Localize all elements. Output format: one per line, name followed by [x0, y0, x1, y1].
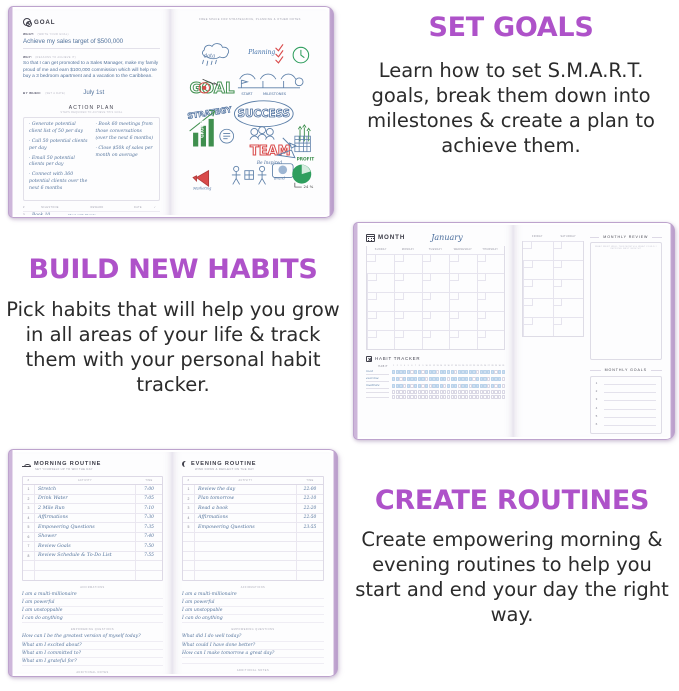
svg-text:SUCCESS: SUCCESS: [238, 108, 291, 120]
row-num: 2: [23, 497, 34, 501]
milestone-text: Book 10 meetings: [32, 213, 68, 216]
routine-row[interactable]: [23, 571, 162, 581]
milestones-col-check: ✓: [150, 206, 160, 209]
calendar-cell[interactable]: [553, 279, 583, 298]
routine-row[interactable]: [183, 571, 323, 581]
morning-notes-caption: ADDITIONAL NOTES: [22, 671, 163, 674]
row-num: 7: [23, 544, 34, 548]
calendar-cell[interactable]: [553, 241, 583, 260]
month-page-header: MONTH January: [366, 233, 505, 242]
calendar-cell[interactable]: [477, 273, 504, 292]
routine-row[interactable]: 7Review Goals7:50: [23, 542, 162, 552]
calendar-weekday-header-right: FRIDAY SATURDAY: [522, 233, 584, 241]
question-line: How can I make tomorrow a great day?: [182, 650, 324, 658]
calendar-cell[interactable]: [523, 260, 553, 279]
weekday-friday: FRIDAY: [522, 233, 553, 241]
calendar-cell[interactable]: [367, 330, 394, 349]
row-time: 22:10: [297, 496, 323, 501]
row-activity: [194, 561, 297, 570]
affirmation-line: I am a multi-millionaire: [182, 591, 324, 599]
question-line: How can I be the greatest version of mys…: [22, 633, 163, 641]
morning-routine-page: MORNING ROUTINE SET YOURSELF UP TO WIN T…: [13, 452, 173, 674]
monthly-goal-num: 5: [596, 414, 601, 418]
goal-field-what-tag: WHAT:: [23, 32, 34, 36]
morning-questions-caption: EMPOWERING QUESTIONS: [22, 628, 163, 631]
goal-field-why-tag: WHY:: [23, 55, 32, 59]
affirmation-line: I am a multi-millionaire: [22, 591, 163, 599]
row-time: 22:50: [297, 515, 323, 520]
calendar-cell[interactable]: [449, 311, 476, 330]
evening-routine-page: EVENING ROUTINE WIND DOWN & REFLECT ON T…: [173, 452, 333, 674]
goal-page-header: GOAL: [23, 18, 160, 26]
calendar-cell[interactable]: [367, 254, 394, 273]
row-activity: Empowering Questions: [194, 523, 297, 532]
goal-field-bywhen-value: July 1st: [83, 89, 104, 98]
question-line: What am I committed to?: [22, 650, 163, 658]
action-plan-item: Email 50 potential clients per day: [29, 156, 88, 170]
action-plan-right-column: Book 60 meetings from those conversation…: [96, 122, 155, 196]
habit-day-number: 21: [465, 365, 468, 368]
row-activity: Review Schedule & To-Do List: [34, 552, 136, 561]
monthly-goals-box: 1 2 3 4 5 6: [590, 376, 662, 434]
habit-row: exercise: [366, 376, 505, 382]
svg-text:Planning: Planning: [247, 49, 275, 56]
habit-row: read: [366, 369, 505, 375]
row-num: 5: [23, 525, 34, 529]
habit-name[interactable]: [366, 396, 389, 398]
calendar-cell[interactable]: [477, 330, 504, 349]
habit-tracker-table: HABIT 1234567891011121314151617181920212…: [366, 365, 505, 399]
row-time: 7:55: [136, 553, 162, 558]
question-line: What did I do well today?: [182, 633, 324, 641]
routine-row[interactable]: 5Empowering Questions23:55: [183, 523, 323, 533]
question-line: What could I have done better?: [182, 642, 324, 650]
calendar-cell[interactable]: [449, 273, 476, 292]
svg-text:STRATEGY: STRATEGY: [187, 105, 233, 121]
goal-field-bywhen: BY WHEN: (SET A DATE) July 1st: [23, 87, 160, 98]
monthly-goal-num: 1: [596, 381, 601, 385]
monthly-goal-num: 6: [596, 422, 601, 426]
question-blank-line: [182, 658, 324, 664]
calendar-cell[interactable]: [553, 260, 583, 279]
habit-name[interactable]: exercise: [366, 376, 389, 382]
monthly-review-panel: MONTHLY REVIEW WHAT WENT WELL THIS MONTH…: [590, 233, 662, 360]
monthly-goal-line[interactable]: 4: [596, 405, 656, 410]
milestones-col-reward: REWARD: [68, 206, 126, 209]
promo-body-set-goals: Learn how to set S.M.A.R.T. goals, break…: [352, 59, 670, 159]
routine-row[interactable]: 4Affirmations22:50: [183, 514, 323, 524]
calendar-cell[interactable]: [422, 330, 449, 349]
svg-text:PROFIT: PROFIT: [297, 156, 315, 162]
action-plan-item: Generate potential client list of 50 per…: [29, 122, 88, 136]
row-activity: Shower: [34, 533, 136, 542]
calendar-cell[interactable]: [523, 317, 553, 336]
calendar-cell[interactable]: [449, 254, 476, 273]
question-line: What am I excited about?: [22, 642, 163, 650]
month-page-right: FRIDAY SATURDAY: [514, 225, 670, 437]
goal-field-why-tip: (REASONS TO ACHIEVE IT): [35, 56, 76, 59]
goal-field-why-value: So that I can get promoted to a Sales Ma…: [23, 61, 160, 81]
weekday-wednesday: WEDNESDAY: [449, 246, 476, 254]
routine-row[interactable]: [183, 542, 323, 552]
routine-row[interactable]: [23, 561, 162, 571]
habit-tracker-days-row: HABIT 1234567891011121314151617181920212…: [366, 365, 505, 368]
milestone-row: 1 Book 10 meetings Meal with friends: [23, 211, 160, 216]
routine-row[interactable]: [183, 561, 323, 571]
col-activity: ACTIVITY: [194, 479, 297, 482]
habit-day-number: 18: [454, 365, 457, 368]
routine-row[interactable]: 8Review Schedule & To-Do List7:55: [23, 552, 162, 562]
calendar-cell[interactable]: [394, 254, 421, 273]
promo-body-build-new-habits: Pick habits that will help you grow in a…: [6, 298, 340, 398]
monthly-review-hint: WHAT WENT WELL THIS MONTH & WHAT COULD I…: [591, 243, 661, 250]
habit-day-cells[interactable]: [392, 390, 505, 393]
row-num: 2: [183, 497, 194, 501]
routine-row[interactable]: 1Review the day22:00: [183, 485, 323, 495]
calendar-cell[interactable]: [394, 273, 421, 292]
row-activity: [194, 542, 297, 551]
month-value: January: [431, 233, 462, 242]
row-num: 3: [183, 506, 194, 510]
col-num: #: [23, 479, 34, 482]
month-page-left: MONTH January SUNDAY MONDAY TUESDAY WEDN…: [358, 225, 514, 437]
weekday-thursday: THURSDAY: [477, 246, 504, 254]
calendar-cells-left: [367, 254, 504, 349]
habit-day-number: 30: [498, 365, 501, 368]
calendar-icon: [366, 234, 375, 242]
affirmation-line: I can do anything: [22, 615, 163, 623]
target-icon: [23, 18, 31, 26]
monthly-goal-line[interactable]: 5: [596, 413, 656, 418]
monthly-review-title: MONTHLY REVIEW: [603, 235, 648, 239]
row-activity: Plan tomorrow: [194, 495, 297, 504]
habit-name[interactable]: [366, 391, 389, 393]
row-time: 7:40: [136, 534, 162, 539]
calendar-cell[interactable]: [367, 273, 394, 292]
habit-day-number: 4: [403, 365, 406, 368]
habit-name[interactable]: meditate: [366, 383, 389, 389]
habit-tracker-header: HABIT TRACKER: [366, 356, 505, 362]
routine-row[interactable]: [183, 533, 323, 543]
calendar-cell[interactable]: [449, 330, 476, 349]
habit-tracker-col-label: HABIT: [366, 365, 392, 368]
monthly-goal-num: 2: [596, 389, 601, 393]
milestones-table: # MILESTONE REWARD DATE ✓ 1 Book 10 meet…: [23, 206, 160, 215]
checkbox-icon: [366, 356, 372, 362]
milestone-num: 1: [23, 213, 32, 216]
calendar-cell[interactable]: [394, 292, 421, 311]
affirmation-line: I am unstoppable: [22, 607, 163, 615]
monthly-goal-num: 4: [596, 406, 601, 410]
notebook-goal-spread: GOAL WHAT: (WRITE YOUR GOAL) Achieve my …: [8, 6, 334, 218]
milestones-col-num: #: [23, 206, 32, 209]
milestones-col-milestone: MILESTONE: [32, 206, 68, 209]
evening-notes-caption: ADDITIONAL NOTES: [182, 669, 324, 672]
goal-spread-pages: GOAL WHAT: (WRITE YOUR GOAL) Achieve my …: [13, 9, 329, 215]
promo-block-build-new-habits: BUILD NEW HABITS Pick habits that will h…: [6, 256, 340, 398]
calendar-cell[interactable]: [367, 311, 394, 330]
goal-field-bywhen-tip: (SET A DATE): [45, 92, 65, 95]
calendar-cell[interactable]: [477, 254, 504, 273]
calendar-cells-right: [522, 241, 584, 337]
calendar-cell[interactable]: [394, 311, 421, 330]
promo-body-create-routines: Create empowering morning & evening rout…: [352, 528, 672, 628]
svg-text:MILESTONES: MILESTONES: [263, 92, 287, 96]
doodle-canvas: data Planning GOAL: [181, 23, 319, 201]
row-time: 22:00: [297, 487, 323, 492]
goal-field-what-tip: (WRITE YOUR GOAL): [37, 33, 68, 36]
svg-text:TEAM: TEAM: [250, 144, 291, 159]
row-activity: Review Goals: [34, 542, 136, 551]
row-num: 4: [23, 516, 34, 520]
svg-text:Marketing: Marketing: [192, 187, 212, 191]
calendar-cell[interactable]: [422, 292, 449, 311]
habit-day-cells[interactable]: [392, 384, 505, 387]
svg-text:Be Inspired: Be Inspired: [256, 161, 282, 166]
calendar-cell[interactable]: [477, 311, 504, 330]
notebook-month-spread: MONTH January SUNDAY MONDAY TUESDAY WEDN…: [353, 222, 675, 440]
habit-day-cells[interactable]: [392, 370, 505, 373]
action-plan-item: Connect with 360 potential clients over …: [29, 172, 88, 193]
row-time: 22:20: [297, 506, 323, 511]
doodle-pie-label: 24 %: [303, 184, 313, 189]
sunrise-icon: [22, 461, 31, 467]
row-activity: 2 Mile Run: [34, 504, 136, 513]
routine-row[interactable]: [183, 552, 323, 562]
calendar-cell[interactable]: [422, 254, 449, 273]
monthly-goal-num: 3: [596, 397, 601, 401]
row-activity: Review the day: [194, 485, 297, 494]
svg-text:data: data: [204, 54, 216, 60]
habit-day-number: 10: [425, 365, 428, 368]
weekday-saturday: SATURDAY: [553, 233, 584, 241]
row-activity: Affirmations: [34, 514, 136, 523]
calendar-cell[interactable]: [394, 330, 421, 349]
marketing-feature-page: SET GOALS Learn how to set S.M.A.R.T. go…: [0, 0, 679, 691]
col-num: #: [183, 479, 194, 482]
habit-day-number: 13: [436, 365, 439, 368]
action-plan-item: Call 50 potential clients per day: [29, 139, 88, 153]
promo-heading-build-new-habits: BUILD NEW HABITS: [6, 256, 340, 284]
promo-heading-set-goals: SET GOALS: [352, 14, 670, 42]
month-spread-pages: MONTH January SUNDAY MONDAY TUESDAY WEDN…: [358, 225, 670, 437]
morning-routine-header: MORNING ROUTINE: [22, 461, 163, 467]
row-num: 1: [183, 487, 194, 491]
goal-field-bywhen-tag: BY WHEN:: [23, 91, 41, 95]
promo-block-set-goals: SET GOALS Learn how to set S.M.A.R.T. go…: [352, 14, 670, 159]
row-activity: [34, 571, 136, 581]
calendar-cell[interactable]: [449, 292, 476, 311]
row-activity: Read a book: [194, 504, 297, 513]
affirmation-line: I am unstoppable: [182, 607, 324, 615]
routine-row[interactable]: 5Empowering Questions7:35: [23, 523, 162, 533]
monthly-goal-line[interactable]: 6: [596, 421, 656, 426]
row-num: 4: [183, 516, 194, 520]
habit-row: meditate: [366, 383, 505, 389]
monthly-goal-line[interactable]: 1: [596, 380, 656, 385]
routine-row[interactable]: 1Stretch7:00: [23, 485, 162, 495]
routine-row[interactable]: 2Drink Water7:05: [23, 495, 162, 505]
row-time: 7:30: [136, 515, 162, 520]
monthly-goal-line[interactable]: 3: [596, 396, 656, 401]
goal-field-what: WHAT: (WRITE YOUR GOAL) Achieve my sales…: [23, 32, 160, 49]
goal-page-right-doodles: FREE SPACE FOR STRATEGIZING, PLANNING & …: [171, 9, 329, 215]
routine-row[interactable]: 2Plan tomorrow22:10: [183, 495, 323, 505]
morning-affirmations-caption: AFFIRMATIONS: [22, 586, 163, 589]
action-plan-item: Book 60 meetings from those conversation…: [96, 122, 155, 143]
calendar-cell[interactable]: [523, 298, 553, 317]
evening-routine-subtitle: WIND DOWN & REFLECT ON THE DAY: [195, 468, 324, 471]
row-activity: [194, 552, 297, 561]
habit-day-number: 7: [414, 365, 417, 368]
row-activity: Empowering Questions: [34, 523, 136, 532]
evening-routine-table: # ACTIVITY TIME 1Review the day22:00 2Pl…: [182, 476, 324, 581]
calendar-cell[interactable]: [477, 292, 504, 311]
evening-questions-caption: EMPOWERING QUESTIONS: [182, 628, 324, 631]
goal-page-title: GOAL: [34, 19, 55, 26]
monthly-goals-title: MONTHLY GOALS: [605, 368, 647, 372]
promo-block-create-routines: CREATE ROUTINES Create empowering mornin…: [352, 487, 672, 628]
habit-tracker-title: HABIT TRACKER: [375, 356, 420, 361]
monthly-goals-panel: MONTHLY GOALS 1 2 3 4 5 6: [522, 368, 662, 434]
row-activity: [194, 533, 297, 542]
calendar-cell[interactable]: [523, 241, 553, 260]
weekday-sunday: SUNDAY: [367, 246, 394, 254]
routine-row[interactable]: 32 Mile Run7:10: [23, 504, 162, 514]
promo-heading-create-routines: CREATE ROUTINES: [352, 487, 672, 515]
action-plan-box: Generate potential client list of 50 per…: [23, 117, 160, 201]
calendar-cell[interactable]: [422, 273, 449, 292]
goal-page-left: GOAL WHAT: (WRITE YOUR GOAL) Achieve my …: [13, 9, 171, 215]
col-time: TIME: [136, 479, 162, 482]
habit-day-cells[interactable]: [392, 377, 505, 380]
habit-day-number: 31: [502, 365, 505, 368]
svg-text:GROWTH: GROWTH: [199, 116, 205, 138]
milestone-reward: Meal with friends: [68, 213, 126, 216]
morning-routine-title: MORNING ROUTINE: [34, 461, 101, 467]
habit-day-number: 16: [447, 365, 450, 368]
calendar-cell[interactable]: [422, 311, 449, 330]
monthly-review-box[interactable]: WHAT WENT WELL THIS MONTH & WHAT COULD I…: [590, 242, 662, 360]
habit-row: [366, 395, 505, 398]
affirmation-line: I can do anything: [182, 615, 324, 623]
svg-text:Brand: Brand: [273, 176, 285, 180]
evening-affirmations-caption: AFFIRMATIONS: [182, 586, 324, 589]
row-num: 5: [183, 525, 194, 529]
habit-day-number: 15: [443, 365, 446, 368]
row-time: 7:05: [136, 496, 162, 501]
action-plan-subtitle: STEPS REQUIRED TO ACHIEVE THIS GOAL: [23, 111, 160, 114]
calendar-cell[interactable]: [523, 279, 553, 298]
evening-routine-header: EVENING ROUTINE: [182, 461, 324, 467]
habit-tracker-day-numbers: 1234567891011121314151617181920212223242…: [392, 365, 505, 368]
weekday-tuesday: TUESDAY: [422, 246, 449, 254]
row-activity: Affirmations: [194, 514, 297, 523]
habit-day-cells[interactable]: [392, 395, 505, 398]
habit-day-number: 1: [392, 365, 395, 368]
col-activity: ACTIVITY: [34, 479, 136, 482]
row-activity: Drink Water: [34, 495, 136, 504]
goal-field-what-value: Achieve my sales target of $500,000: [23, 38, 160, 49]
calendar-weekday-header: SUNDAY MONDAY TUESDAY WEDNESDAY THURSDAY: [367, 246, 504, 254]
affirmation-line: I am powerful: [22, 599, 163, 607]
month-page-title: MONTH: [378, 234, 405, 241]
row-activity: [34, 561, 136, 570]
action-plan-left-column: Generate potential client list of 50 per…: [29, 122, 88, 196]
morning-table-header: # ACTIVITY TIME: [23, 477, 162, 485]
evening-routine-title: EVENING ROUTINE: [191, 461, 256, 467]
row-time: 7:10: [136, 506, 162, 511]
milestones-col-date: DATE: [126, 206, 150, 209]
row-time: 7:35: [136, 525, 162, 530]
action-plan-item: Close $50k of sales per month on average: [96, 146, 155, 160]
habit-row: [366, 390, 505, 393]
habit-day-number: 24: [476, 365, 479, 368]
affirmation-line: I am powerful: [182, 599, 324, 607]
row-activity: [194, 571, 297, 581]
row-time: 23:55: [297, 525, 323, 530]
routines-spread-pages: MORNING ROUTINE SET YOURSELF UP TO WIN T…: [13, 452, 333, 674]
row-num: 6: [23, 535, 34, 539]
habit-day-number: 27: [487, 365, 490, 368]
notebook-routines-spread: MORNING ROUTINE SET YOURSELF UP TO WIN T…: [8, 449, 338, 677]
row-num: 3: [23, 506, 34, 510]
moon-icon: [182, 461, 188, 467]
row-time: 7:50: [136, 544, 162, 549]
evening-table-header: # ACTIVITY TIME: [183, 477, 323, 485]
calendar-cell[interactable]: [553, 298, 583, 317]
calendar-grid-right: FRIDAY SATURDAY: [522, 233, 584, 360]
calendar-grid-left: SUNDAY MONDAY TUESDAY WEDNESDAY THURSDAY: [366, 246, 505, 350]
svg-text:GOAL: GOAL: [190, 80, 235, 97]
calendar-cell[interactable]: [367, 292, 394, 311]
weekday-monday: MONDAY: [394, 246, 421, 254]
routine-row[interactable]: 3Read a book22:20: [183, 504, 323, 514]
morning-routine-subtitle: SET YOURSELF UP TO WIN THE DAY: [35, 468, 163, 471]
calendar-cell[interactable]: [553, 317, 583, 336]
habit-name[interactable]: read: [366, 369, 389, 375]
routine-row[interactable]: 4Affirmations7:30: [23, 514, 162, 524]
svg-text:START: START: [241, 92, 253, 96]
doodle-illustrations: data Planning GOAL: [181, 23, 319, 201]
morning-routine-table: # ACTIVITY TIME 1Stretch7:00 2Drink Wate…: [22, 476, 163, 581]
row-activity: Stretch: [34, 485, 136, 494]
row-num: 8: [23, 554, 34, 558]
row-time: 7:00: [136, 487, 162, 492]
row-num: 1: [23, 487, 34, 491]
doodle-page-caption: FREE SPACE FOR STRATEGIZING, PLANNING & …: [181, 18, 319, 21]
routine-row[interactable]: 6Shower7:40: [23, 533, 162, 543]
goal-field-why: WHY: (REASONS TO ACHIEVE IT) So that I c…: [23, 55, 160, 81]
question-line: What am I grateful for?: [22, 658, 163, 666]
col-time: TIME: [297, 479, 323, 482]
monthly-goal-line[interactable]: 2: [596, 388, 656, 393]
